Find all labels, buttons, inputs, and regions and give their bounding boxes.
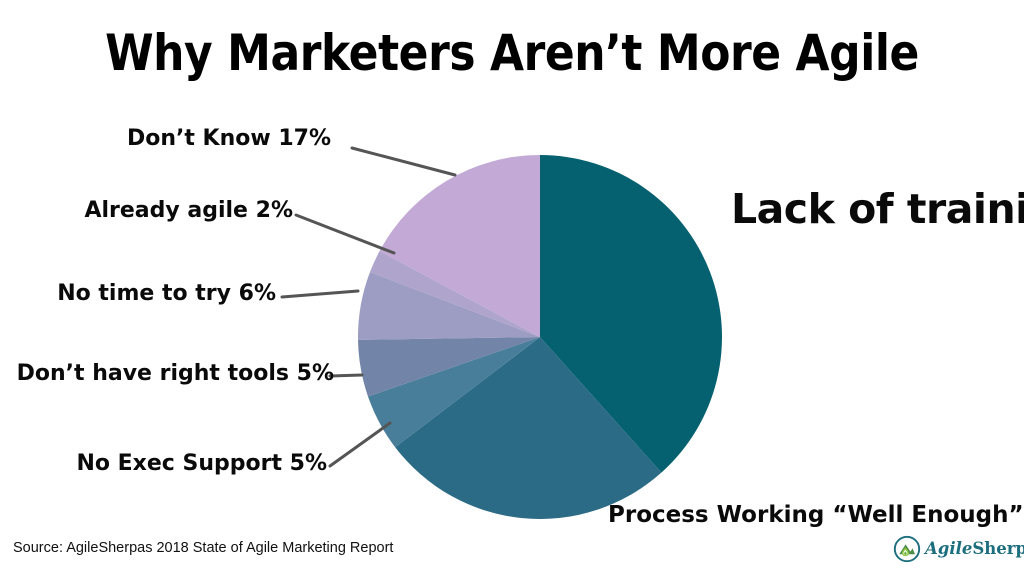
leader-line-already-agile (296, 215, 394, 253)
agilesherpas-logo: AgileSherpas (893, 534, 1024, 564)
source-note: Source: AgileSherpas 2018 State of Agile… (13, 540, 393, 556)
pie-label-dont-have-right-tools: Don’t have right tools 5% (17, 361, 334, 387)
pie-label-dont-know: Don’t Know 17% (127, 126, 331, 152)
pie-label-no-exec-support: No Exec Support 5% (76, 451, 327, 477)
pie-label-already-agile: Already agile 2% (84, 198, 293, 224)
leader-line-dont-know (352, 148, 455, 175)
logo-word-agile: Agile (925, 539, 972, 558)
leader-line-no-exec (330, 423, 390, 466)
slide-canvas: Why Marketers Aren’t More Agile Don’t Kn… (0, 0, 1024, 575)
pie-label-process-working-well-enough: Process Working “Well Enough” 26% (608, 502, 938, 530)
logo-word-sherpas: Sherpas (972, 539, 1024, 558)
leader-line-no-time (282, 291, 358, 297)
leader-line-no-tools (330, 375, 362, 376)
pie-slice-group (358, 155, 722, 519)
logo-wordmark: AgileSherpas (925, 541, 1024, 558)
pie-label-lack-of-training: Lack of training 38% (731, 187, 1007, 233)
circle-mountain-droplet-icon (893, 535, 921, 563)
pie-label-no-time-to-try: No time to try 6% (57, 281, 276, 307)
